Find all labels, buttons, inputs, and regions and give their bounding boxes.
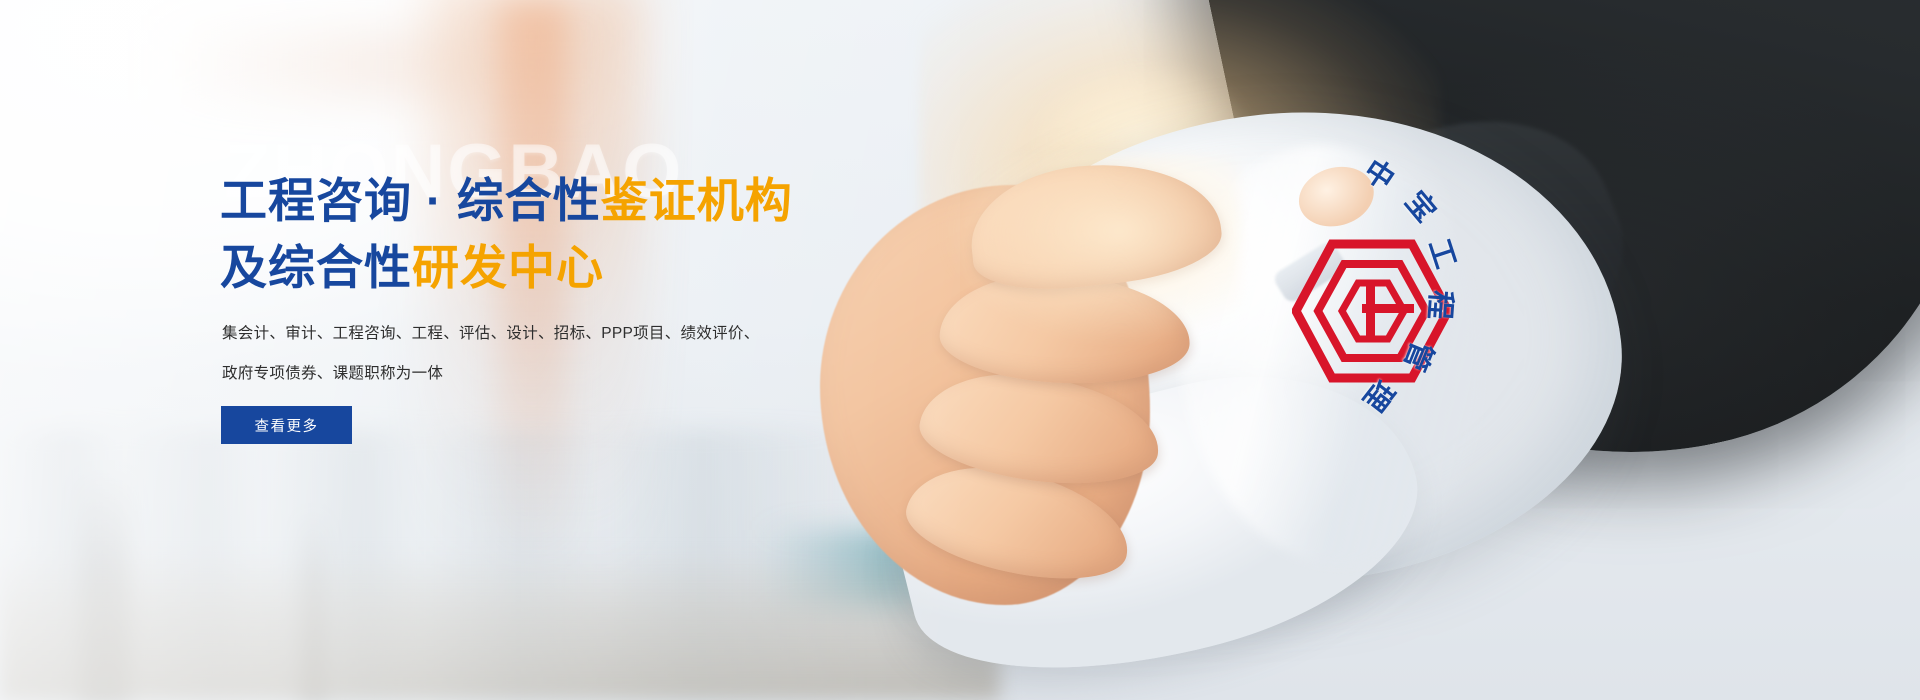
headline-line2-blue: 及综合性 [220,241,412,294]
hand-highlight [940,155,1240,345]
logo-arc-char-1: 中 [1357,147,1405,198]
view-more-button[interactable]: 查看更多 [221,406,352,444]
headline-line-1: 工程咨询 · 综合性鉴证机构 [220,168,920,235]
logo-arc-char-2: 宝 [1397,180,1448,229]
logo-arc-char-4: 程 [1421,289,1465,321]
helmet-logo: 中 宝 工 程 管 理 [1220,150,1550,480]
hero-text-column: ZHONGBAO 工程咨询 · 综合性鉴证机构 及综合性研发中心 集会计、审计、… [220,0,940,700]
headline-line2-orange: 研发中心 [412,241,604,294]
hero-headline: 工程咨询 · 综合性鉴证机构 及综合性研发中心 [220,168,920,301]
headline-line1-blue: 工程咨询 · 综合性 [220,174,601,227]
headline-line-2: 及综合性研发中心 [220,235,920,302]
description-line-1: 集会计、审计、工程咨询、工程、评估、设计、招标、PPP项目、绩效评价、 [222,314,842,354]
headline-line1-orange: 鉴证机构 [601,174,793,227]
hero-description: 集会计、审计、工程咨询、工程、评估、设计、招标、PPP项目、绩效评价、 政府专项… [222,314,842,393]
description-line-2: 政府专项债券、课题职称为一体 [222,354,842,394]
hero-banner: 中 宝 工 程 管 理 ZHONGBAO 工程咨询 · 综合性鉴证机构 及综合性… [0,0,1920,700]
